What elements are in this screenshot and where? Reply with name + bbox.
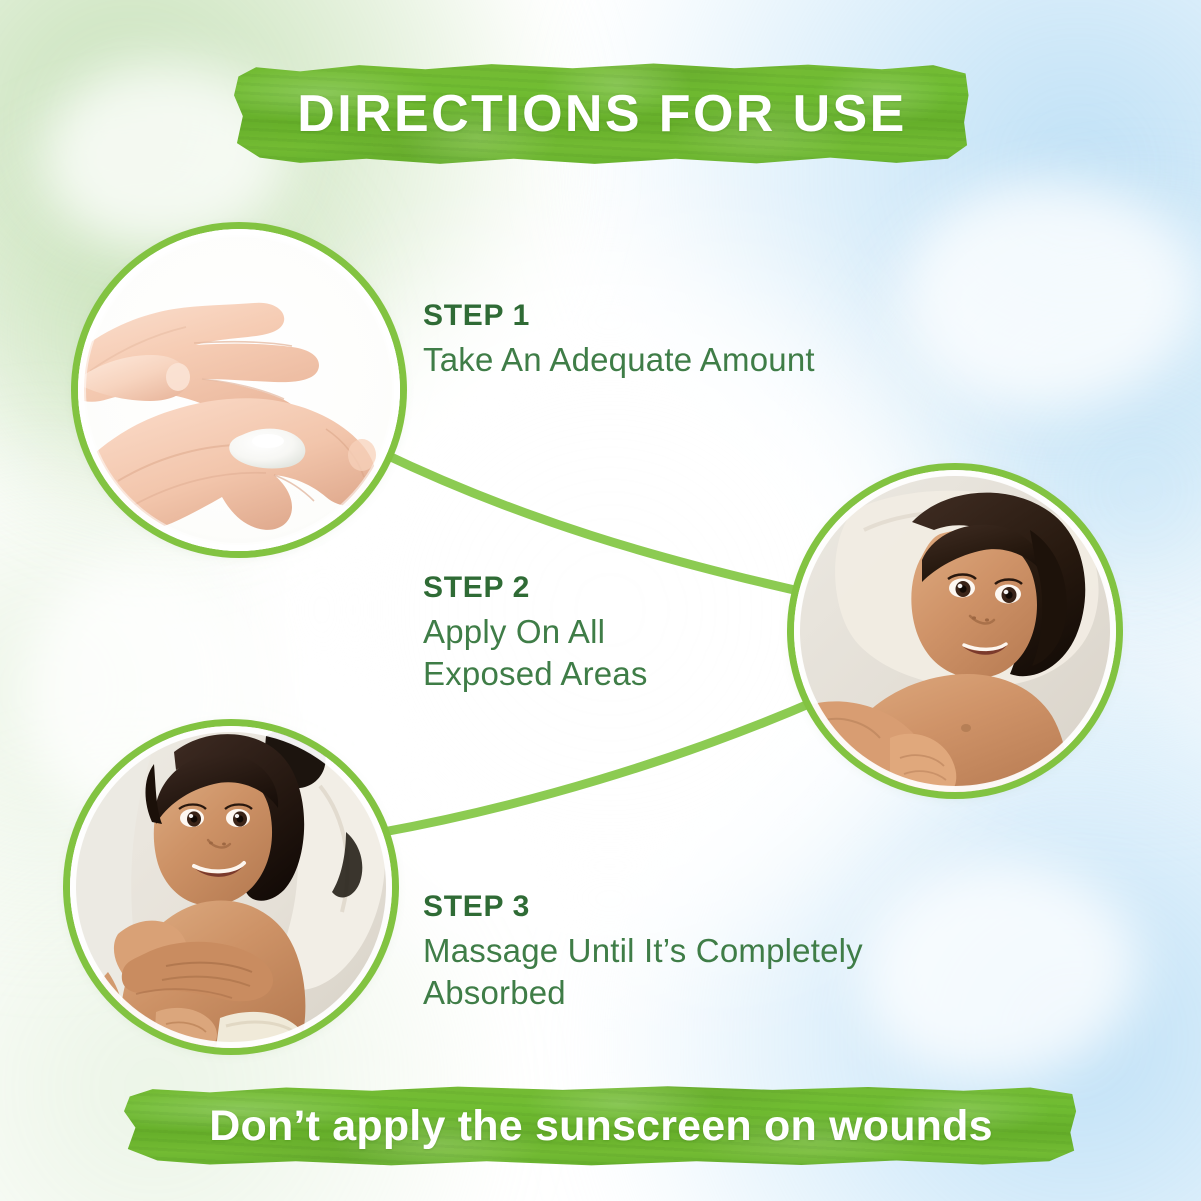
step-3-description-line-2: Absorbed — [423, 974, 566, 1011]
step-1-description-line-1: Take An Adequate Amount — [423, 341, 815, 378]
connector-step2-to-step3 — [372, 700, 818, 834]
step-2-description-line-2: Exposed Areas — [423, 655, 648, 692]
page-title: DIRECTIONS FOR USE — [297, 88, 906, 140]
step-2-text-block: STEP 2 Apply On All Exposed Areas — [423, 572, 943, 695]
warning-banner: Don’t apply the sunscreen on wounds — [124, 1085, 1078, 1167]
step-1-image-circle — [78, 229, 400, 551]
directions-for-use-banner: DIRECTIONS FOR USE — [234, 62, 970, 166]
step-3-description: Massage Until It’s Completely Absorbed — [423, 930, 943, 1014]
step-3-description-line-1: Massage Until It’s Completely — [423, 932, 863, 969]
step-1-label: STEP 1 — [423, 300, 943, 332]
step-3-label: STEP 3 — [423, 891, 943, 923]
step-2-description-line-1: Apply On All — [423, 613, 605, 650]
paper-cloud-2 — [900, 180, 1200, 410]
step-1-description: Take An Adequate Amount — [423, 339, 943, 381]
warning-text: Don’t apply the sunscreen on wounds — [209, 1105, 992, 1148]
hands-dispensing-cream-photo — [78, 229, 400, 551]
baby-being-massaged-photo — [70, 726, 392, 1048]
step-3-image-circle — [70, 726, 392, 1048]
directions-for-use-poster: DIRECTIONS FOR USE — [0, 0, 1201, 1201]
step-2-label: STEP 2 — [423, 572, 943, 604]
step-3-text-block: STEP 3 Massage Until It’s Completely Abs… — [423, 891, 943, 1014]
step-2-description: Apply On All Exposed Areas — [423, 611, 943, 695]
step-1-text-block: STEP 1 Take An Adequate Amount — [423, 300, 943, 381]
